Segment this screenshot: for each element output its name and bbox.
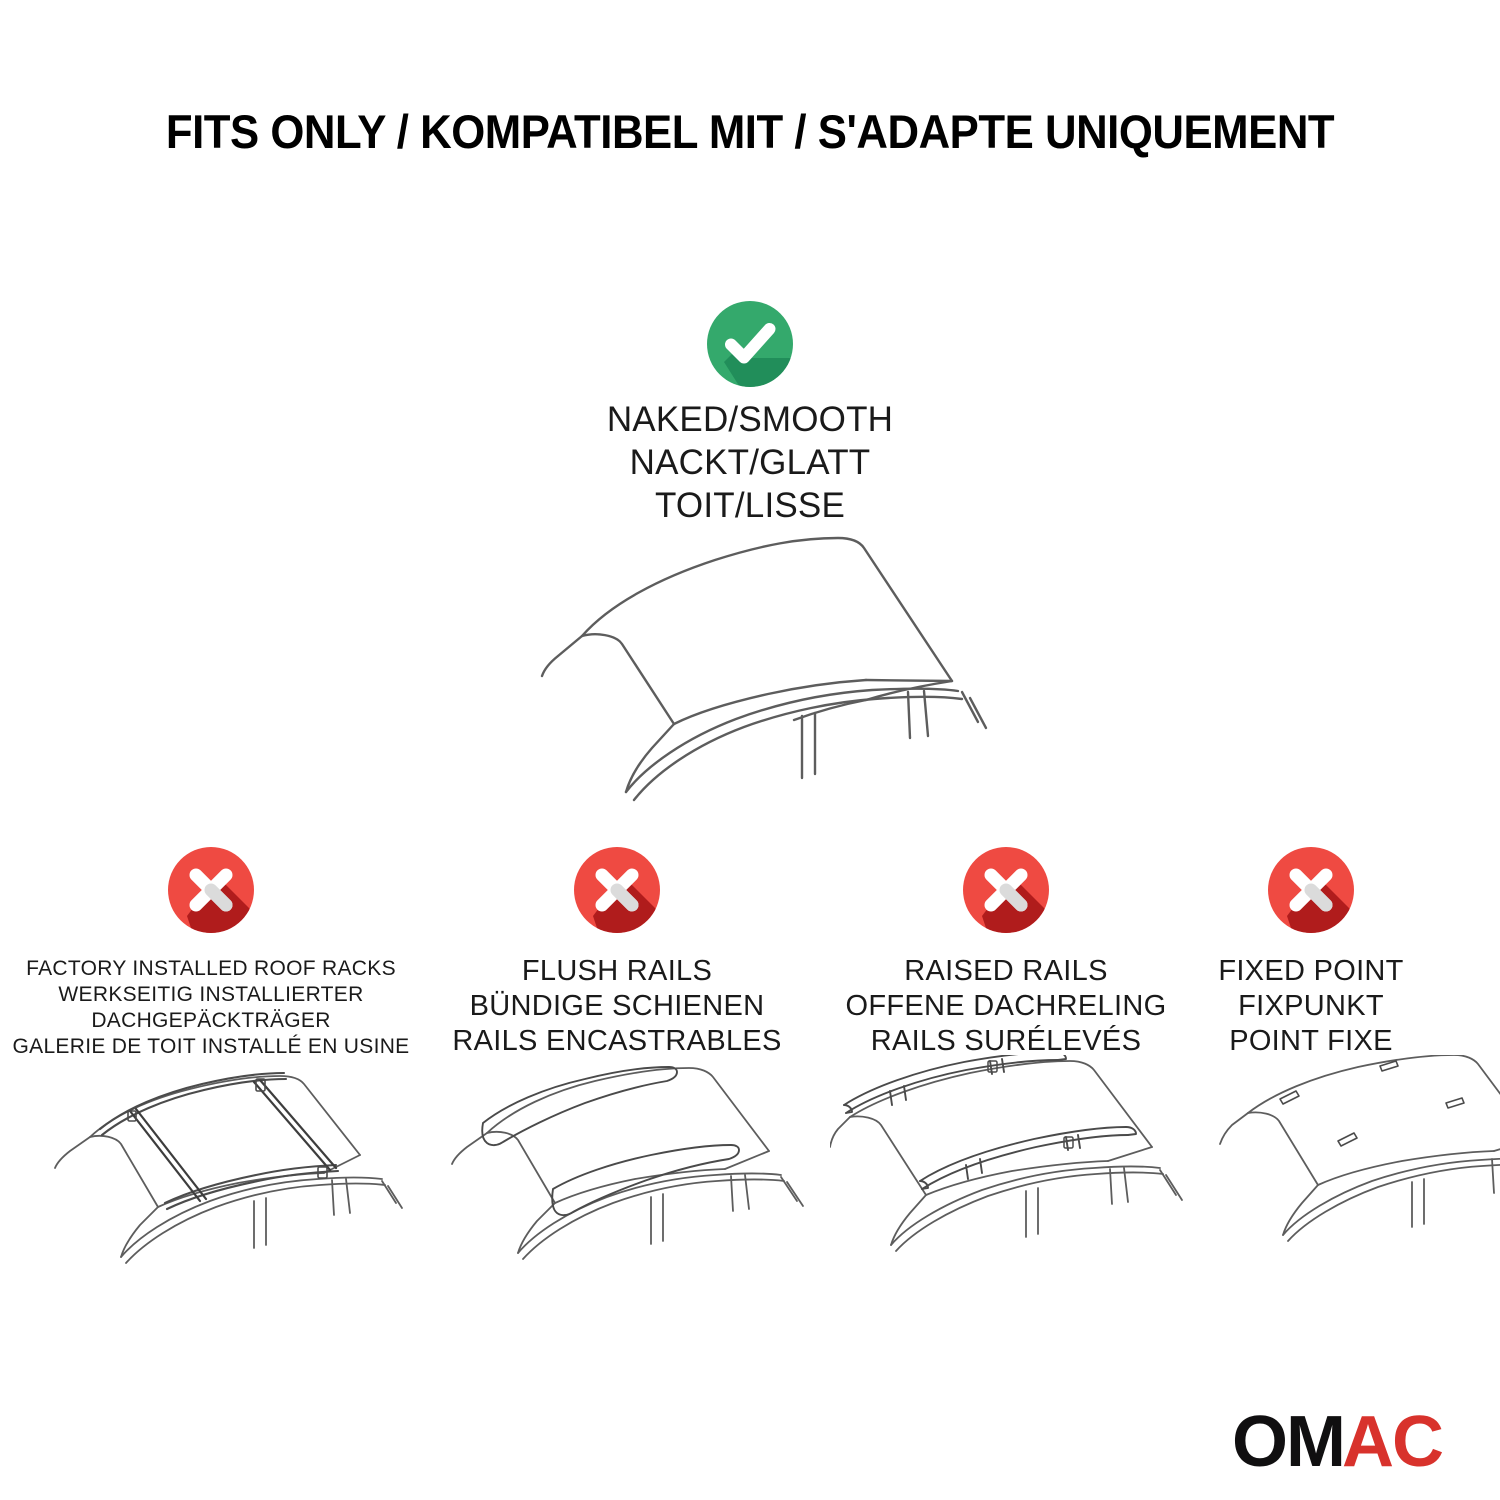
label-line-1: FLUSH RAILS bbox=[417, 954, 817, 989]
x-circle-icon bbox=[962, 846, 1050, 934]
x-icon-wrapper bbox=[417, 846, 817, 946]
logo-text-dark: OM bbox=[1232, 1408, 1344, 1478]
page-title: FITS ONLY / KOMPATIBEL MIT / S'ADAPTE UN… bbox=[53, 104, 1448, 159]
x-icon-wrapper bbox=[1151, 846, 1471, 946]
label-line-2: WERKSEITIG INSTALLIERTER bbox=[11, 982, 411, 1008]
factory-roof-rack-illustration bbox=[30, 1055, 450, 1285]
x-icon-wrapper bbox=[806, 846, 1206, 946]
incompatible-item-flush-rails: FLUSH RAILS BÜNDIGE SCHIENEN RAILS ENCAS… bbox=[417, 846, 817, 1059]
label-line-1: FACTORY INSTALLED ROOF RACKS bbox=[11, 956, 411, 982]
label-line-2: OFFENE DACHRELING bbox=[806, 989, 1206, 1024]
label-line-3: DACHGEPÄCKTRÄGER bbox=[11, 1008, 411, 1034]
label-line-3: RAILS ENCASTRABLES bbox=[417, 1024, 817, 1059]
incompatible-label: FLUSH RAILS BÜNDIGE SCHIENEN RAILS ENCAS… bbox=[417, 954, 817, 1059]
incompatible-label: FACTORY INSTALLED ROOF RACKS WERKSEITIG … bbox=[11, 956, 411, 1060]
x-circle-icon bbox=[167, 846, 255, 934]
incompatible-item-raised-rails: RAISED RAILS OFFENE DACHRELING RAILS SUR… bbox=[806, 846, 1206, 1059]
incompatible-item-fixed-point: FIXED POINT FIXPUNKT POINT FIXE bbox=[1151, 846, 1471, 1059]
label-line-2: BÜNDIGE SCHIENEN bbox=[417, 989, 817, 1024]
label-line-1: RAISED RAILS bbox=[806, 954, 1206, 989]
x-icon-wrapper bbox=[11, 846, 411, 946]
fixed-point-illustration bbox=[1175, 1055, 1500, 1285]
incompatible-label: RAISED RAILS OFFENE DACHRELING RAILS SUR… bbox=[806, 954, 1206, 1059]
check-circle-icon bbox=[706, 300, 794, 388]
incompatible-item-factory-installed-roof-racks: FACTORY INSTALLED ROOF RACKS WERKSEITIG … bbox=[11, 846, 411, 1060]
logo-text-accent: AC bbox=[1342, 1408, 1443, 1478]
compatible-label: NAKED/SMOOTH NACKT/GLATT TOIT/LISSE bbox=[0, 398, 1500, 527]
flush-rails-illustration bbox=[435, 1055, 855, 1285]
incompatible-label: FIXED POINT FIXPUNKT POINT FIXE bbox=[1151, 954, 1471, 1059]
compatible-section: NAKED/SMOOTH NACKT/GLATT TOIT/LISSE bbox=[0, 300, 1500, 527]
compatible-label-line-1: NAKED/SMOOTH bbox=[0, 398, 1500, 441]
x-circle-icon bbox=[573, 846, 661, 934]
label-line-3: POINT FIXE bbox=[1151, 1024, 1471, 1059]
naked-smooth-roof-illustration bbox=[500, 516, 1020, 806]
label-line-2: FIXPUNKT bbox=[1151, 989, 1471, 1024]
x-circle-icon bbox=[1267, 846, 1355, 934]
label-line-3: RAILS SURÉLEVÉS bbox=[806, 1024, 1206, 1059]
brand-logo: OM AC bbox=[1232, 1408, 1482, 1478]
compatible-label-line-2: NACKT/GLATT bbox=[0, 441, 1500, 484]
label-line-1: FIXED POINT bbox=[1151, 954, 1471, 989]
